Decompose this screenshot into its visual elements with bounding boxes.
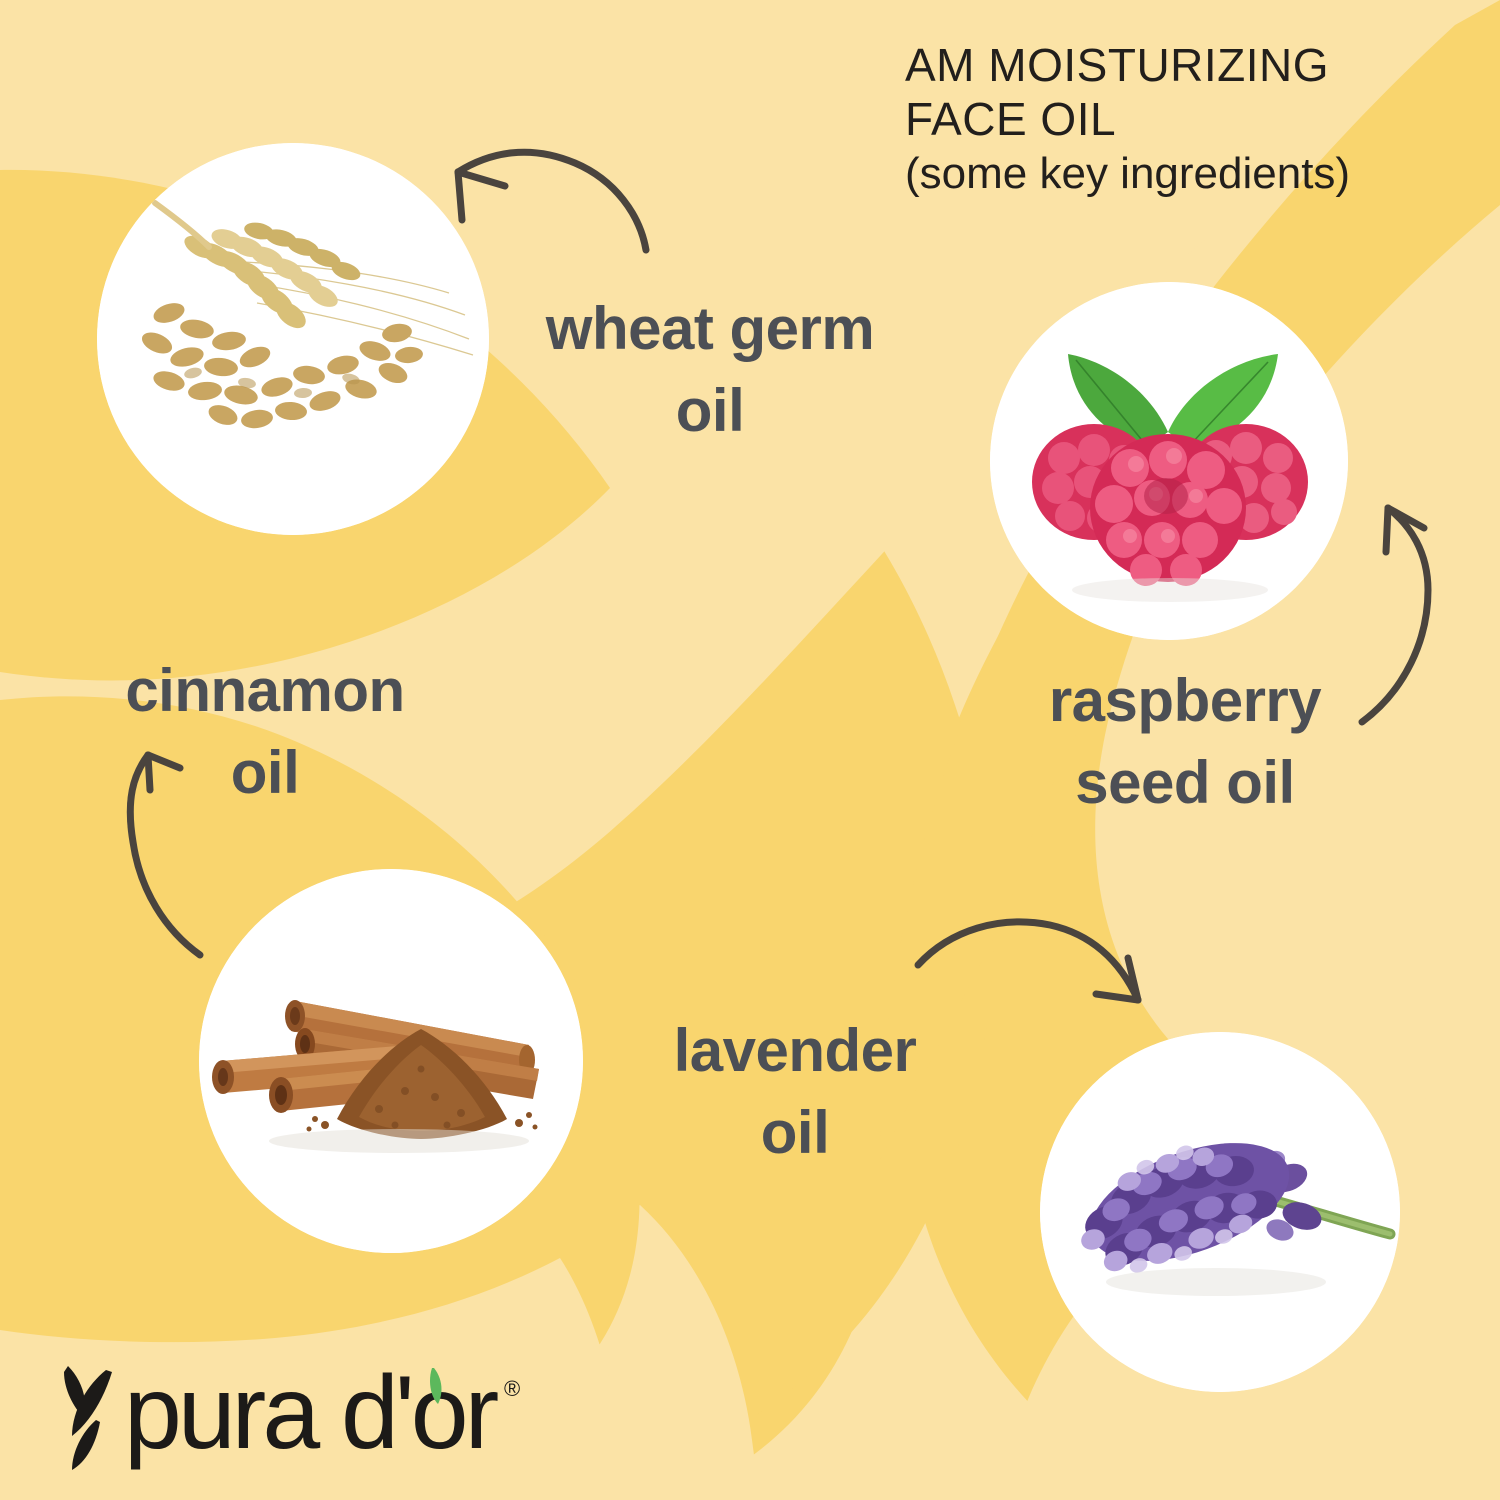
- brand-logo: pura d'or ®: [38, 1352, 528, 1472]
- label-line-2: oil: [500, 370, 920, 452]
- lavender-sprig-photo: [1040, 1032, 1400, 1392]
- logo-wordmark: pura d'or: [124, 1355, 498, 1471]
- cinnamon-sticks-photo: [199, 869, 583, 1253]
- leaf-mark-icon: [64, 1366, 112, 1470]
- label-line-2: oil: [630, 1092, 960, 1174]
- wheat-grains-photo: [97, 143, 489, 535]
- heading-subtitle: (some key ingredients): [905, 146, 1485, 202]
- ingredient-label-wheat-germ-oil: wheat germ oil: [500, 288, 920, 452]
- label-line-1: lavender: [630, 1010, 960, 1092]
- label-line-2: seed oil: [1000, 742, 1370, 824]
- ingredient-label-lavender-oil: lavender oil: [630, 1010, 960, 1174]
- label-line-1: cinnamon: [80, 650, 450, 732]
- registered-trademark: ®: [504, 1376, 520, 1401]
- ingredient-infographic: AM MOISTURIZING FACE OIL (some key ingre…: [0, 0, 1500, 1500]
- label-line-1: raspberry: [1000, 660, 1370, 742]
- ingredient-label-cinnamon-oil: cinnamon oil: [80, 650, 450, 814]
- product-heading: AM MOISTURIZING FACE OIL (some key ingre…: [905, 38, 1485, 202]
- label-line-2: oil: [80, 732, 450, 814]
- heading-line-1: AM MOISTURIZING: [905, 38, 1485, 92]
- ingredient-label-raspberry-seed-oil: raspberry seed oil: [1000, 660, 1370, 824]
- raspberries-photo: [990, 282, 1348, 640]
- label-line-1: wheat germ: [500, 288, 920, 370]
- heading-line-2: FACE OIL: [905, 92, 1485, 146]
